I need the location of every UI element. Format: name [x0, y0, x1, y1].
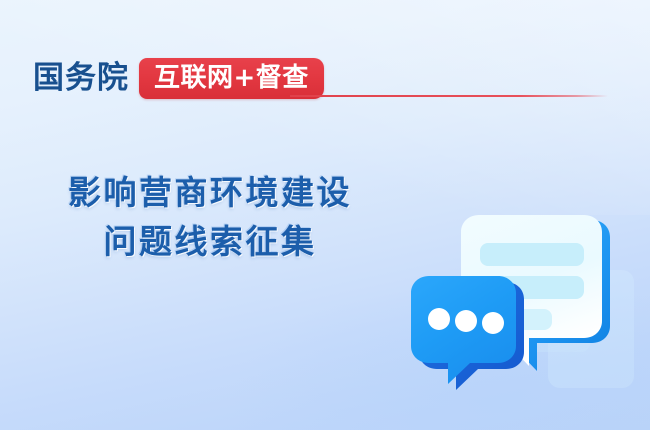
chat-bubbles-illustration [398, 198, 650, 403]
header-divider-rule [290, 95, 608, 97]
program-badge-label: 互联网+督查 [154, 65, 309, 91]
page-title: 影响营商环境建设 问题线索征集 [0, 168, 420, 266]
typing-dot-2 [455, 310, 477, 332]
front-chat-bubble [411, 276, 524, 390]
header: 国务院 互联网+督查 [33, 56, 324, 100]
banner-root: 国务院 互联网+督查 影响营商环境建设 问题线索征集 [0, 0, 650, 430]
page-title-line-1: 影响营商环境建设 [0, 168, 420, 217]
typing-dot-3 [482, 312, 504, 334]
typing-dot-1 [428, 308, 450, 330]
page-title-line-2: 问题线索征集 [0, 217, 420, 266]
text-line-1 [480, 243, 584, 266]
gov-name-label: 国务院 [33, 63, 129, 94]
program-badge: 互联网+督查 [139, 58, 324, 99]
